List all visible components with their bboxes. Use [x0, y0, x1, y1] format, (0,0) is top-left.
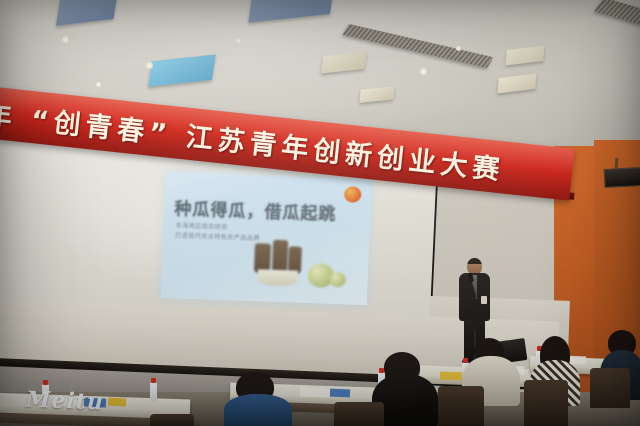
- chair: [524, 380, 568, 426]
- downlight-icon: [236, 38, 241, 43]
- chair: [590, 368, 630, 408]
- water-bottle: [150, 382, 157, 402]
- document-on-table: [56, 397, 82, 406]
- document-on-table: [440, 372, 462, 381]
- downlight-icon: [456, 46, 461, 51]
- chair: [150, 414, 194, 426]
- conference-photo: 种瓜得瓜，借瓜起跳 东海地区综合经验 打造现代农业特色农产品品牌 年 “创青春”…: [0, 0, 640, 426]
- document-on-table: [300, 387, 330, 397]
- chair: [438, 386, 484, 426]
- water-bottle: [42, 384, 49, 404]
- downlight-icon: [146, 62, 153, 69]
- document-on-table: [330, 389, 350, 398]
- presenter-badge: [481, 296, 487, 304]
- projected-slide: 种瓜得瓜，借瓜起跳 东海地区综合经验 打造现代农业特色农产品品牌: [161, 172, 372, 305]
- downlight-icon: [96, 82, 101, 87]
- document-on-table: [108, 398, 126, 407]
- document-on-table: [84, 397, 106, 407]
- slide-product-image: [243, 235, 364, 303]
- downlight-icon: [62, 36, 69, 43]
- slide-subtitle-line-1: 东海地区综合经验: [176, 220, 228, 231]
- downlight-icon: [420, 68, 427, 75]
- wall-speaker-icon: [604, 167, 640, 188]
- chair: [334, 402, 384, 426]
- competition-emblem-icon: [344, 186, 362, 203]
- attendee-blue-shirt: [224, 394, 292, 426]
